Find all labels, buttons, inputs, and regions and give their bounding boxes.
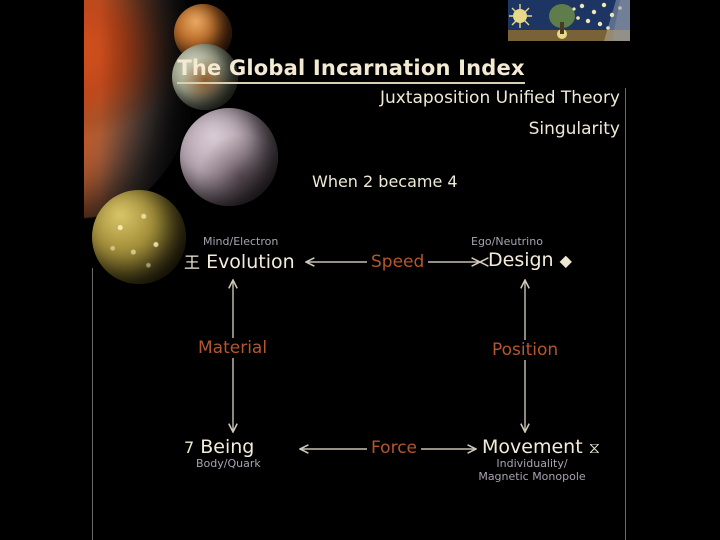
edge-label-material: Material [194,338,271,358]
node-being-sublabel: Body/Quark [196,458,261,471]
edge-label-speed: Speed [367,252,428,272]
node-evolution-label: Evolution [206,251,295,273]
node-design[interactable]: Design ◆ [488,249,572,271]
letterbox-bar-right [632,0,720,540]
node-evolution[interactable]: 王 Evolution [184,249,295,273]
triple-bar-glyph-icon: 王 [184,253,200,272]
edge-label-position: Position [488,340,562,360]
slide-canvas: The Global Incarnation Index Juxtapositi… [0,0,720,540]
node-design-label: Design [488,249,554,271]
node-movement[interactable]: Movement ⧖ [482,436,600,458]
left-frame-rule [92,268,93,540]
edge-label-force: Force [367,438,421,458]
node-movement-sublabel-line2: Magnetic Monopole [462,471,602,484]
node-evolution-sublabel: Mind/Electron [203,236,278,249]
diamond-glyph-icon: ◆ [560,251,572,270]
node-design-sublabel: Ego/Neutrino [471,236,543,249]
node-movement-sublabel-line1: Individuality/ [462,458,602,471]
hourglass-glyph-icon: ⧖ [589,438,600,457]
seven-glyph-icon: 7 [184,438,194,457]
slide-content-frame: The Global Incarnation Index Juxtapositi… [84,0,632,540]
node-being[interactable]: 7 Being [184,436,254,458]
node-movement-label: Movement [482,436,583,458]
node-movement-sublabel: Individuality/ Magnetic Monopole [462,458,602,483]
right-frame-rule [625,88,626,540]
letterbox-bar-left [0,0,84,540]
incarnation-index-diagram: Mind/Electron 王 Evolution Ego/Neutrino D… [84,0,632,540]
node-being-label: Being [200,436,254,458]
